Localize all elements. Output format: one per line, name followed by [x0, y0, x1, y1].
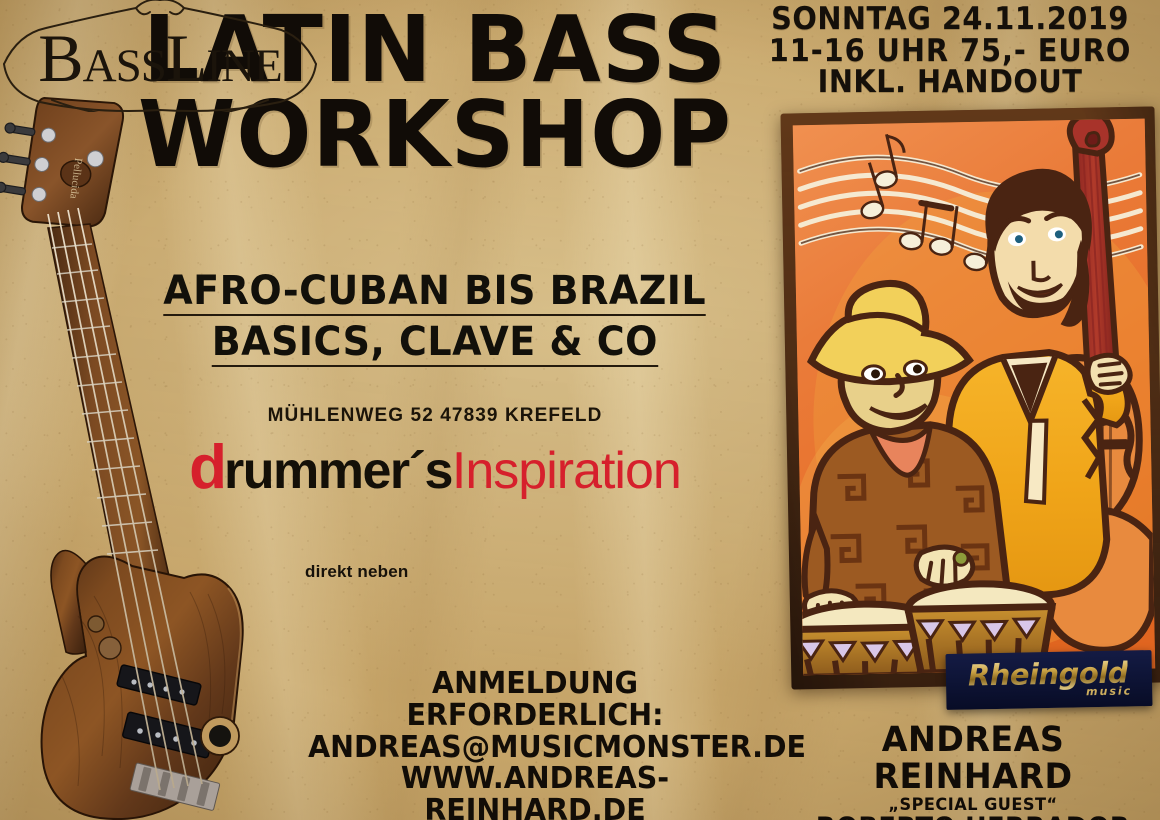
- main-artist-name: ANDREAS REINHARD: [795, 722, 1150, 796]
- rheingold-subtitle: music: [1086, 684, 1132, 698]
- subtitle-line-2: BASICS, CLAVE & CO: [212, 321, 658, 367]
- di-logo-rummers: rummer´s: [224, 442, 452, 500]
- guest-artist-name: ROBERTO HERRADOR: [795, 814, 1150, 820]
- poster-canvas: Pellucida: [0, 0, 1160, 820]
- registration-contact-block: ANMELDUNG ERFORDERLICH: ANDREAS@MUSICMON…: [295, 668, 775, 820]
- bassline-wordmark: BASSLINE: [0, 24, 320, 92]
- event-handout: INKL. HANDOUT: [758, 67, 1141, 99]
- poster-subtitle: AFRO-CUBAN BIS BRAZIL BASICS, CLAVE & CO: [130, 270, 740, 372]
- bassline-ass: ASS: [83, 40, 166, 92]
- subtitle-line-1: AFRO-CUBAN BIS BRAZIL: [164, 270, 707, 316]
- event-time-price: 11-16 UHR 75,- EURO: [758, 36, 1141, 68]
- artwork-illustration: [793, 119, 1155, 676]
- contact-website[interactable]: WWW.ANDREAS-REINHARD.DE: [307, 763, 763, 820]
- bassline-ine: INE: [206, 40, 281, 92]
- artist-credits: ANDREAS REINHARD „SPECIAL GUEST“ ROBERTO…: [786, 722, 1160, 820]
- contact-email[interactable]: ANDREAS@MUSICMONSTER.DE: [308, 732, 806, 764]
- di-logo-inspiration: Inspiration: [452, 442, 681, 500]
- bassline-logo: BASSLINE: [0, 0, 320, 112]
- event-date: SONNTAG 24.11.2019: [758, 4, 1141, 36]
- di-logo-d: d: [189, 433, 224, 502]
- rheingold-music-logo: Rheingold music: [945, 650, 1152, 710]
- neighbour-label: direkt neben: [305, 562, 408, 582]
- drummers-inspiration-logo: drummer´sInspiration: [130, 432, 740, 503]
- bassline-b: B: [38, 20, 82, 96]
- venue-address: MÜHLENWEG 52 47839 KREFELD: [130, 405, 740, 427]
- event-details-block: SONNTAG 24.11.2019 11-16 UHR 75,- EURO I…: [744, 4, 1156, 99]
- bassline-l: L: [166, 20, 207, 96]
- artwork-panel: [781, 106, 1160, 689]
- registration-notice: ANMELDUNG ERFORDERLICH:: [307, 668, 763, 732]
